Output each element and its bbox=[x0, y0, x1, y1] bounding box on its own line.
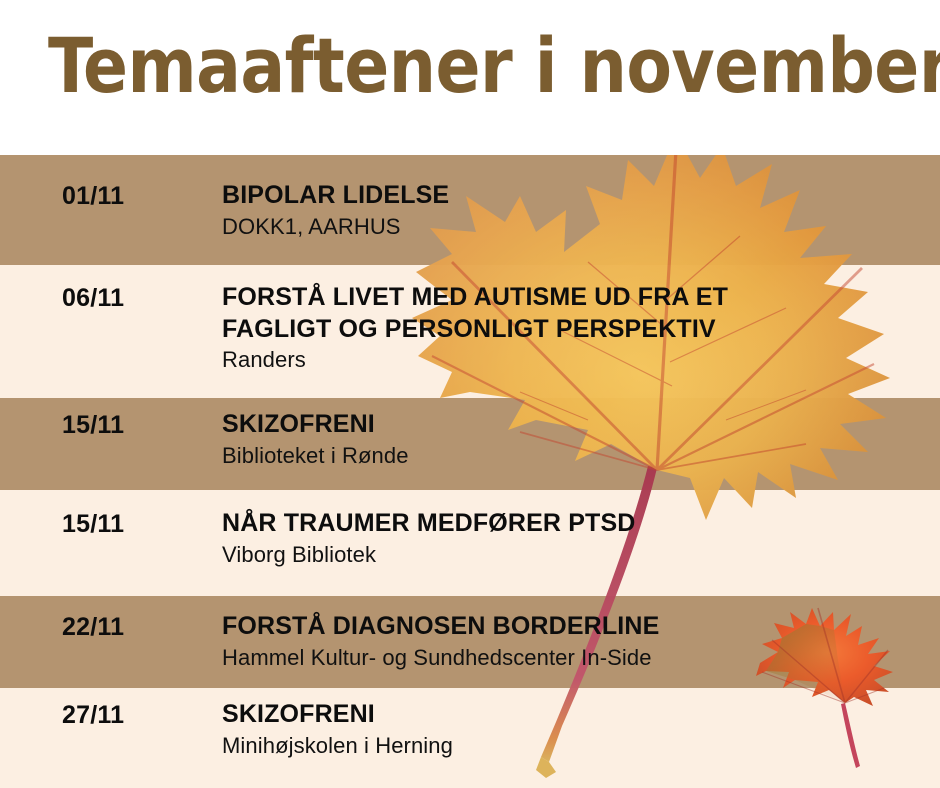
event-date: 15/11 bbox=[62, 510, 124, 539]
event-date: 15/11 bbox=[62, 411, 124, 440]
event-body: SKIZOFRENIMinihøjskolen i Herning bbox=[222, 699, 930, 759]
event-poster: Temaaftener i november 01/11BIPOLAR LIDE… bbox=[0, 0, 940, 788]
event-body: BIPOLAR LIDELSEDOKK1, AARHUS bbox=[222, 180, 930, 240]
event-title: FORSTÅ DIAGNOSEN BORDERLINE bbox=[222, 611, 930, 643]
event-row: 22/11FORSTÅ DIAGNOSEN BORDERLINEHammel K… bbox=[0, 596, 940, 688]
event-date: 27/11 bbox=[62, 701, 124, 730]
event-body: SKIZOFRENIBiblioteket i Rønde bbox=[222, 409, 930, 469]
event-date: 06/11 bbox=[62, 284, 124, 313]
event-body: FORSTÅ DIAGNOSEN BORDERLINEHammel Kultur… bbox=[222, 611, 930, 671]
event-title: SKIZOFRENI bbox=[222, 409, 930, 441]
event-row: 15/11NÅR TRAUMER MEDFØRER PTSDViborg Bib… bbox=[0, 490, 940, 596]
event-venue: DOKK1, AARHUS bbox=[222, 213, 930, 241]
event-title: BIPOLAR LIDELSE bbox=[222, 180, 930, 212]
event-row: 06/11FORSTÅ LIVET MED AUTISME UD FRA ET … bbox=[0, 265, 940, 398]
event-venue: Hammel Kultur- og Sundhedscenter In-Side bbox=[222, 644, 930, 672]
event-venue: Minihøjskolen i Herning bbox=[222, 732, 930, 760]
event-venue: Viborg Bibliotek bbox=[222, 541, 930, 569]
event-body: FORSTÅ LIVET MED AUTISME UD FRA ET FAGLI… bbox=[222, 282, 930, 374]
event-title: NÅR TRAUMER MEDFØRER PTSD bbox=[222, 508, 930, 540]
page-title: Temaaftener i november bbox=[48, 28, 882, 104]
event-venue: Biblioteket i Rønde bbox=[222, 442, 930, 470]
event-title: SKIZOFRENI bbox=[222, 699, 930, 731]
poster-header: Temaaftener i november bbox=[0, 0, 940, 155]
event-row: 15/11SKIZOFRENIBiblioteket i Rønde bbox=[0, 398, 940, 490]
event-date: 01/11 bbox=[62, 182, 124, 211]
event-date: 22/11 bbox=[62, 613, 124, 642]
event-row: 01/11BIPOLAR LIDELSEDOKK1, AARHUS bbox=[0, 155, 940, 265]
event-venue: Randers bbox=[222, 346, 930, 374]
event-row: 27/11SKIZOFRENIMinihøjskolen i Herning bbox=[0, 688, 940, 788]
event-body: NÅR TRAUMER MEDFØRER PTSDViborg Bibliote… bbox=[222, 508, 930, 568]
event-title: FORSTÅ LIVET MED AUTISME UD FRA ET FAGLI… bbox=[222, 282, 930, 345]
